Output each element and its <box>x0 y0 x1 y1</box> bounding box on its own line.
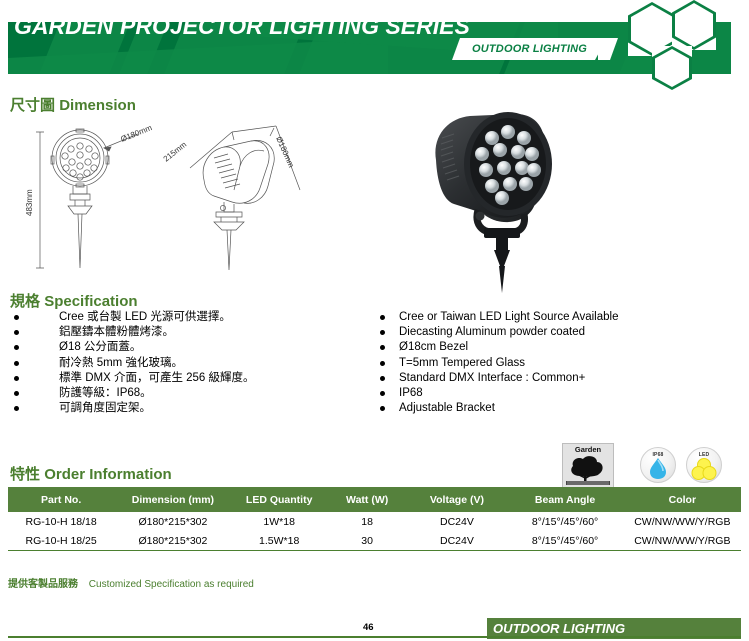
bullet-icon <box>14 315 19 320</box>
spec-item-en: IP68 <box>380 386 730 401</box>
spec-item-cn: 鋁壓鑄本體粉體烤漆。 <box>14 325 354 340</box>
table-header-led-quantity: LED Quantity <box>232 487 327 512</box>
spec-text: Adjustable Bracket <box>399 401 495 416</box>
table-header-watt: Watt (W) <box>327 487 408 512</box>
spec-text: Standard DMX Interface : Common+ <box>399 371 585 386</box>
table-header-row: Part No. Dimension (mm) LED Quantity Wat… <box>8 487 741 512</box>
spec-text: 可調角度固定架。 <box>59 401 151 416</box>
table-header-beam-angle: Beam Angle <box>506 487 623 512</box>
bullet-icon <box>380 376 385 381</box>
order-information-heading: 特性 Order Information <box>10 463 172 484</box>
spec-text: Cree or Taiwan LED Light Source Availabl… <box>399 310 618 325</box>
spec-item-en: Ø18cm Bezel <box>380 340 730 355</box>
bullet-icon <box>380 391 385 396</box>
spec-item-en: Adjustable Bracket <box>380 401 730 416</box>
bullet-icon <box>380 406 385 411</box>
bullet-icon <box>14 345 19 350</box>
cell-dimension: Ø180*215*302 <box>114 512 231 531</box>
spec-text: T=5mm Tempered Glass <box>399 356 525 371</box>
spec-text: 標準 DMX 介面，可產生 256 級輝度。 <box>59 371 255 386</box>
spec-item-cn: 標準 DMX 介面，可產生 256 級輝度。 <box>14 371 354 386</box>
customization-note: 提供客製品服務 Customized Specification as requ… <box>8 575 254 590</box>
dim-length-label: 215mm <box>162 140 189 164</box>
spec-item-cn: Ø18 公分面蓋。 <box>14 340 354 355</box>
hexagon-decor-icon <box>672 0 716 50</box>
outdoor-lighting-ribbon: OUTDOOR LIGHTING <box>452 38 607 60</box>
product-photo <box>412 100 602 295</box>
bullet-icon <box>380 315 385 320</box>
customization-note-en: Customized Specification as required <box>89 579 254 590</box>
ribbon-label: OUTDOOR LIGHTING <box>472 43 587 55</box>
table-header-part-no: Part No. <box>8 487 114 512</box>
product-photo-svg <box>412 100 602 295</box>
spec-text: Ø18 公分面蓋。 <box>59 340 141 355</box>
footer-divider <box>8 636 741 638</box>
footer-category-label: OUTDOOR LIGHTING <box>493 621 625 636</box>
table-header-voltage: Voltage (V) <box>407 487 506 512</box>
bullet-icon <box>380 361 385 366</box>
cell-part-no: RG-10-H 18/25 <box>8 531 114 551</box>
table-header-dimension: Dimension (mm) <box>114 487 231 512</box>
specification-list-cn: Cree 或台製 LED 光源可供選擇。 鋁壓鑄本體粉體烤漆。 Ø18 公分面蓋… <box>14 310 354 416</box>
garden-badge-label: Garden <box>575 445 601 454</box>
tree-icon <box>564 454 612 486</box>
cell-color: CW/NW/WW/Y/RGB <box>624 512 741 531</box>
cell-led-quantity: 1.5W*18 <box>232 531 327 551</box>
dimension-heading-cn: 尺寸圖 <box>10 97 55 114</box>
table-row: RG-10-H 18/18 Ø180*215*302 1W*18 18 DC24… <box>8 512 741 531</box>
dimension-drawing-svg: 483mm Ø180mm 215mm Ø180mm <box>18 120 348 275</box>
spec-text: 鋁壓鑄本體粉體烤漆。 <box>59 325 174 340</box>
spec-item-cn: 可調角度固定架。 <box>14 401 354 416</box>
specification-heading: 規格 Specification <box>10 290 138 311</box>
dim-front-diameter-label: Ø180mm <box>119 123 153 144</box>
cell-part-no: RG-10-H 18/18 <box>8 512 114 531</box>
spec-text: Ø18cm Bezel <box>399 340 468 355</box>
led-badge-icon: LED <box>686 447 722 483</box>
table-row: RG-10-H 18/25 Ø180*215*302 1.5W*18 30 DC… <box>8 531 741 551</box>
cell-voltage: DC24V <box>407 512 506 531</box>
spec-item-en: Cree or Taiwan LED Light Source Availabl… <box>380 310 730 325</box>
bullet-icon <box>380 330 385 335</box>
spec-text: Diecasting Aluminum powder coated <box>399 325 585 340</box>
led-badge-label: LED <box>687 452 721 458</box>
page-title: GARDEN PROJECTOR LIGHTING SERIES <box>14 13 470 40</box>
dim-side-diameter-label: Ø180mm <box>274 135 296 169</box>
spec-item-cn: 耐冷熱 5mm 強化玻璃。 <box>14 356 354 371</box>
dimension-heading: 尺寸圖 Dimension <box>10 94 136 115</box>
order-information-table: Part No. Dimension (mm) LED Quantity Wat… <box>8 487 741 551</box>
spec-text: 防護等級：IP68。 <box>59 386 152 401</box>
page-number: 46 <box>363 622 374 633</box>
garden-badge-icon: Garden <box>562 443 614 489</box>
order-heading-en: Order Information <box>44 466 172 483</box>
bullet-icon <box>14 406 19 411</box>
specification-heading-cn: 規格 <box>10 293 40 310</box>
cell-dimension: Ø180*215*302 <box>114 531 231 551</box>
spec-item-cn: Cree 或台製 LED 光源可供選擇。 <box>14 310 354 325</box>
hexagon-decor-icon <box>652 46 692 90</box>
cell-led-quantity: 1W*18 <box>232 512 327 531</box>
dimension-heading-en: Dimension <box>59 97 136 114</box>
dim-height-label: 483mm <box>25 189 34 216</box>
cell-watt: 30 <box>327 531 408 551</box>
spec-item-cn: 防護等級：IP68。 <box>14 386 354 401</box>
page-header: GARDEN PROJECTOR LIGHTING SERIES OUTDOOR… <box>0 0 749 92</box>
bullet-icon <box>14 330 19 335</box>
bullet-icon <box>14 391 19 396</box>
cell-color: CW/NW/WW/Y/RGB <box>624 531 741 551</box>
specification-heading-en: Specification <box>44 293 137 310</box>
order-heading-cn: 特性 <box>10 466 40 483</box>
bullet-icon <box>14 376 19 381</box>
bullet-icon <box>14 361 19 366</box>
table-header-color: Color <box>624 487 741 512</box>
spec-text: Cree 或台製 LED 光源可供選擇。 <box>59 310 231 325</box>
cell-voltage: DC24V <box>407 531 506 551</box>
spec-item-en: Diecasting Aluminum powder coated <box>380 325 730 340</box>
spec-item-en: Standard DMX Interface : Common+ <box>380 371 730 386</box>
cell-watt: 18 <box>327 512 408 531</box>
specification-list-en: Cree or Taiwan LED Light Source Availabl… <box>380 310 730 416</box>
spec-text: IP68 <box>399 386 423 401</box>
certification-badges: Garden IP68 LED <box>562 443 742 489</box>
cell-beam-angle: 8°/15°/45°/60° <box>506 512 623 531</box>
spec-item-en: T=5mm Tempered Glass <box>380 356 730 371</box>
customization-note-cn: 提供客製品服務 <box>8 579 78 590</box>
dimension-drawings: 483mm Ø180mm 215mm Ø180mm <box>18 120 348 275</box>
spec-text: 耐冷熱 5mm 強化玻璃。 <box>59 356 183 371</box>
ip68-badge-label: IP68 <box>641 452 675 458</box>
bullet-icon <box>380 345 385 350</box>
ip68-badge-icon: IP68 <box>640 447 676 483</box>
cell-beam-angle: 8°/15°/45°/60° <box>506 531 623 551</box>
